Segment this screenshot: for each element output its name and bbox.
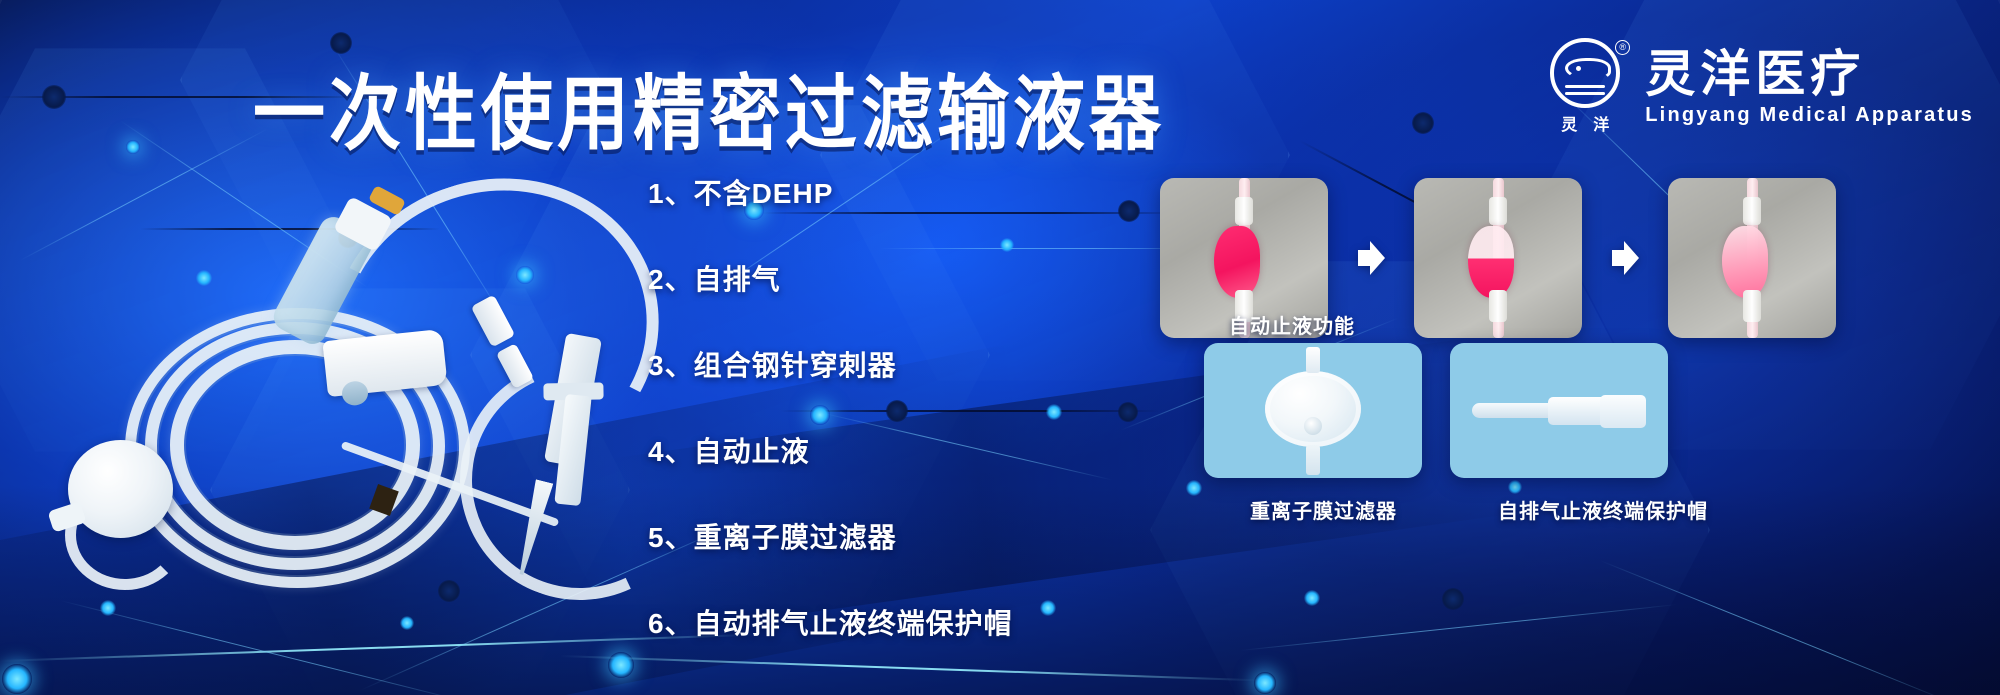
feature-item-4: 4、自动止液	[648, 430, 1048, 470]
arrow-right-icon	[1612, 241, 1638, 275]
brand-name-cn: 灵洋医疗	[1645, 47, 1974, 101]
inline-filter-part	[68, 440, 173, 538]
brand-name-block: 灵洋医疗 Lingyang Medical Apparatus	[1645, 47, 1974, 127]
feature-list: 1、不含DEHP 2、自排气 3、组合钢针穿刺器 4、自动止液 5、重离子膜过滤…	[648, 172, 1048, 642]
feature-item-5: 5、重离子膜过滤器	[648, 516, 1048, 556]
caption-self-venting-protective-cap: 自排气止液终端保护帽	[1498, 495, 1708, 524]
fish-seal-icon: ®	[1550, 38, 1620, 108]
page-title: 一次性使用精密过滤输液器	[253, 46, 1165, 166]
product-photo	[40, 150, 680, 550]
feature-item-2: 2、自排气	[648, 258, 1048, 298]
feature-item-6: 6、自动排气止液终端保护帽	[648, 602, 1048, 642]
component-photo-protective-cap	[1450, 343, 1668, 478]
product-banner: 一次性使用精密过滤输液器 ® 灵洋 灵洋医疗 Lingyang Medical …	[0, 0, 2000, 695]
feature-item-3: 3、组合钢针穿刺器	[648, 344, 1048, 384]
component-photos	[1204, 343, 1668, 478]
feature-item-1: 1、不含DEHP	[648, 172, 1048, 212]
registered-trademark-icon: ®	[1615, 40, 1630, 55]
brand-seal-characters: 灵洋	[1545, 111, 1625, 135]
caption-heavy-ion-membrane-filter: 重离子膜过滤器	[1250, 495, 1397, 524]
brand-seal: ® 灵洋	[1545, 38, 1625, 135]
arrow-right-icon	[1358, 241, 1384, 275]
brand-name-en: Lingyang Medical Apparatus	[1645, 104, 1974, 127]
sequence-photo-3	[1668, 178, 1836, 338]
caption-auto-stop-function: 自动止液功能	[1229, 310, 1355, 339]
sequence-photo-2	[1414, 178, 1582, 338]
brand-logo: ® 灵洋 灵洋医疗 Lingyang Medical Apparatus	[1545, 38, 1974, 135]
component-photo-filter	[1204, 343, 1422, 478]
seal-char-right: 洋	[1593, 117, 1625, 134]
seal-char-left: 灵	[1561, 117, 1593, 134]
